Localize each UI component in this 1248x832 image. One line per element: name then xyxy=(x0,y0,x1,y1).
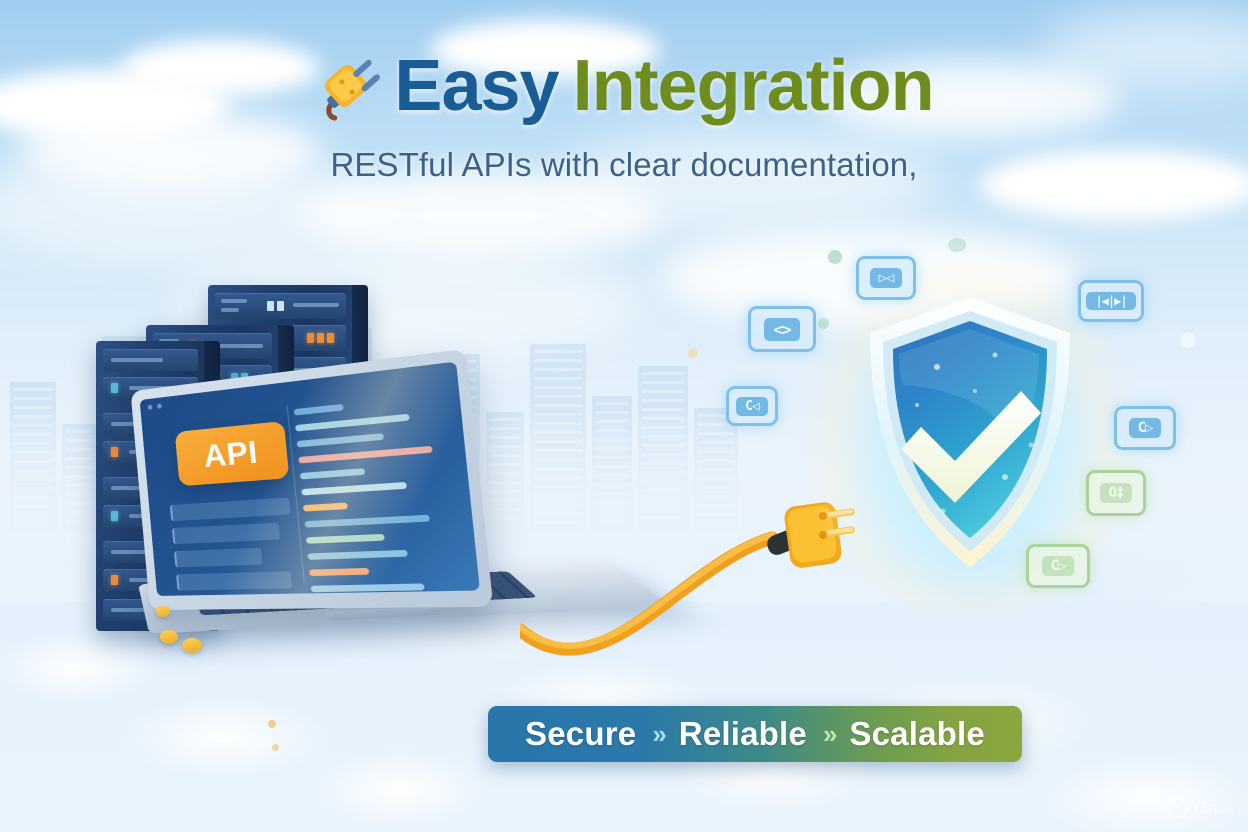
code-icon-glyph: C◁ xyxy=(736,397,768,416)
banner-separator-icon: » xyxy=(823,719,833,750)
code-icon-glyph: C▷ xyxy=(1042,556,1075,576)
coin-decoration xyxy=(182,638,202,653)
bokeh-bubble xyxy=(948,238,966,252)
banner-item-reliable: Reliable xyxy=(679,715,807,753)
bokeh-bubble xyxy=(268,720,276,728)
feature-banner[interactable]: Secure » Reliable » Scalable xyxy=(488,706,1022,762)
code-icon-glyph: C▷ xyxy=(1129,418,1162,438)
bokeh-bubble xyxy=(828,250,842,264)
bokeh-bubble xyxy=(272,744,279,751)
header: Easy Integration RESTful APIs with clear… xyxy=(0,50,1248,184)
grok-watermark: Grok xyxy=(1167,797,1234,818)
bokeh-bubble xyxy=(818,318,829,329)
banner-item-scalable: Scalable xyxy=(849,715,985,753)
coin-decoration xyxy=(156,606,170,617)
banner-separator-icon: » xyxy=(652,719,662,750)
page-subtitle: RESTful APIs with clear documentation, xyxy=(0,146,1248,184)
page-title: Easy Integration xyxy=(314,50,933,122)
bokeh-bubble xyxy=(1180,332,1196,348)
code-icon-angle-brackets: <> xyxy=(748,306,816,352)
grok-logo-icon xyxy=(1167,797,1188,818)
title-part-easy: Easy xyxy=(394,50,558,122)
title-part-integration: Integration xyxy=(573,50,934,122)
power-cable xyxy=(520,480,850,670)
laptop-trackpad xyxy=(324,606,442,621)
coin-decoration xyxy=(160,630,178,644)
code-icon-cd-green: C▷ xyxy=(1026,544,1090,588)
bokeh-bubble xyxy=(688,348,698,358)
code-icon-glyph: O‡ xyxy=(1100,483,1133,503)
code-icon-glyph: <> xyxy=(764,318,799,341)
plug-icon xyxy=(314,55,380,121)
screen-glare xyxy=(140,362,480,596)
code-icon-glyph: ▷◁ xyxy=(870,268,903,288)
security-shield xyxy=(845,285,1095,585)
code-icon-object: O‡ xyxy=(1086,470,1146,516)
grok-watermark-label: Grok xyxy=(1194,798,1234,818)
banner-item-secure: Secure xyxy=(525,715,636,753)
laptop-screen: API xyxy=(140,362,480,596)
code-icon-step-controls: |◀|▶| xyxy=(1078,280,1144,322)
poster-canvas: Easy Integration RESTful APIs with clear… xyxy=(0,0,1248,832)
code-icon-glyph: |◀|▶| xyxy=(1086,292,1135,310)
laptop-lid: API xyxy=(130,349,493,610)
code-icon-play-pair: ▷◁ xyxy=(856,256,916,300)
code-icon-c-arrow: C◁ xyxy=(726,386,778,426)
code-icon-cd: C▷ xyxy=(1114,406,1176,450)
